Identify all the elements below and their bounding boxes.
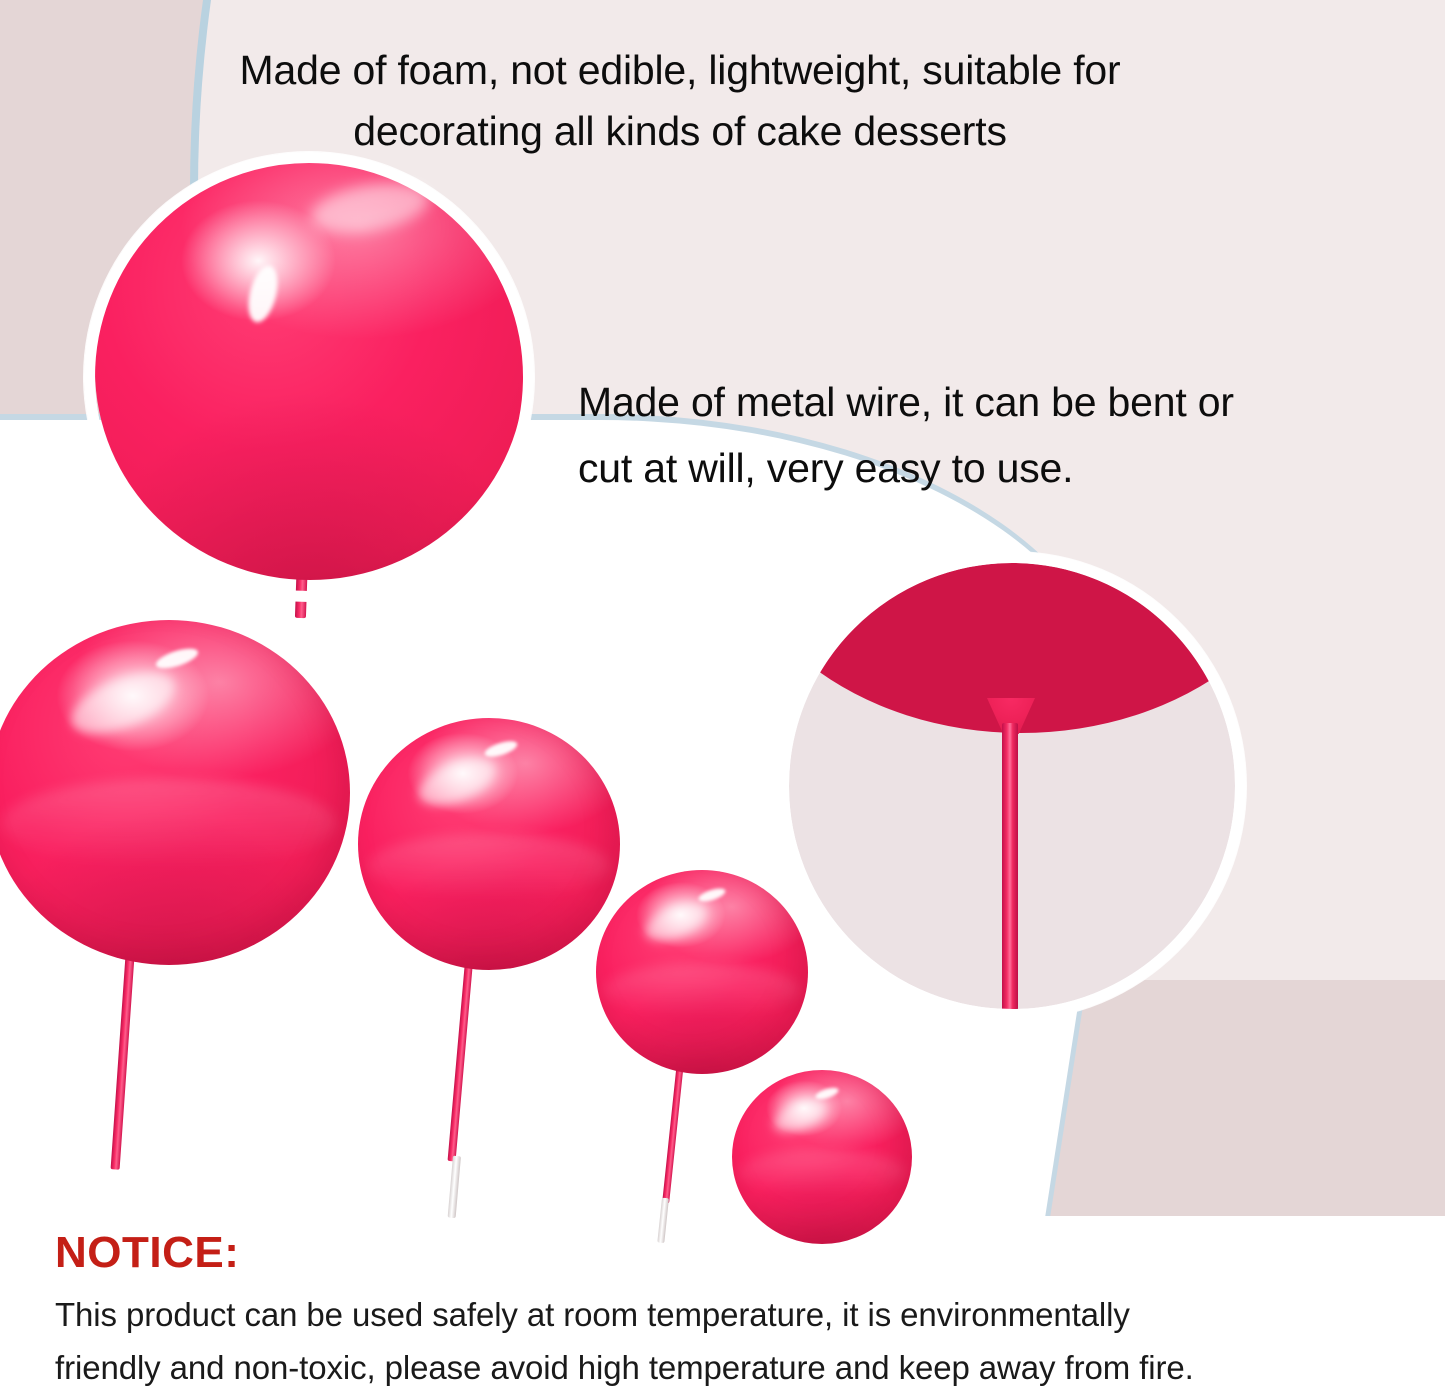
pop-large-soft-highlight bbox=[411, 749, 501, 815]
pop-medium-band bbox=[604, 964, 799, 1017]
pop-xsmall-band bbox=[739, 1150, 905, 1195]
pop-medium-ball bbox=[596, 870, 808, 1074]
notice-body-line-1: This product can be used safely at room … bbox=[55, 1288, 1405, 1341]
headline-block: Made of foam, not edible, lightweight, s… bbox=[0, 40, 1360, 161]
pop-xlarge-highlight bbox=[153, 645, 199, 673]
notice-body-line-2: friendly and non-toxic, please avoid hig… bbox=[55, 1341, 1405, 1394]
headline-line-1: Made of foam, not edible, lightweight, s… bbox=[0, 40, 1360, 101]
pop-large-highlight bbox=[483, 738, 519, 760]
pop-xlarge-band bbox=[2, 779, 335, 869]
pop-medium-highlight bbox=[697, 886, 727, 904]
wire-callout-line-1: Made of metal wire, it can be bent or bbox=[578, 370, 1438, 436]
pop-closeup-soft-highlight bbox=[307, 175, 433, 241]
pop-closeup-highlight bbox=[243, 263, 282, 326]
pop-xsmall-ball bbox=[732, 1070, 912, 1244]
notice-body: This product can be used safely at room … bbox=[55, 1288, 1405, 1394]
wire-closeup-shaft bbox=[1002, 723, 1018, 1020]
pop-medium-soft-highlight bbox=[639, 895, 711, 948]
magnifier-wire-closeup bbox=[778, 552, 1246, 1020]
infographic-canvas: Made of foam, not edible, lightweight, s… bbox=[0, 0, 1445, 1394]
pop-xlarge-ball bbox=[0, 620, 350, 965]
right-wedge-mauve bbox=[1045, 980, 1445, 1250]
pop-xsmall-soft-highlight bbox=[769, 1094, 831, 1139]
wire-callout-block: Made of metal wire, it can be bent or cu… bbox=[578, 370, 1438, 501]
notice-title: NOTICE: bbox=[55, 1228, 239, 1278]
wire-callout-line-2: cut at will, very easy to use. bbox=[578, 436, 1438, 502]
pop-xlarge-soft-highlight bbox=[63, 660, 183, 746]
pop-large-ball bbox=[358, 718, 620, 970]
pop-closeup-ball bbox=[95, 160, 525, 580]
headline-line-2: decorating all kinds of cake desserts bbox=[0, 101, 1360, 162]
pop-large-band bbox=[368, 834, 609, 900]
